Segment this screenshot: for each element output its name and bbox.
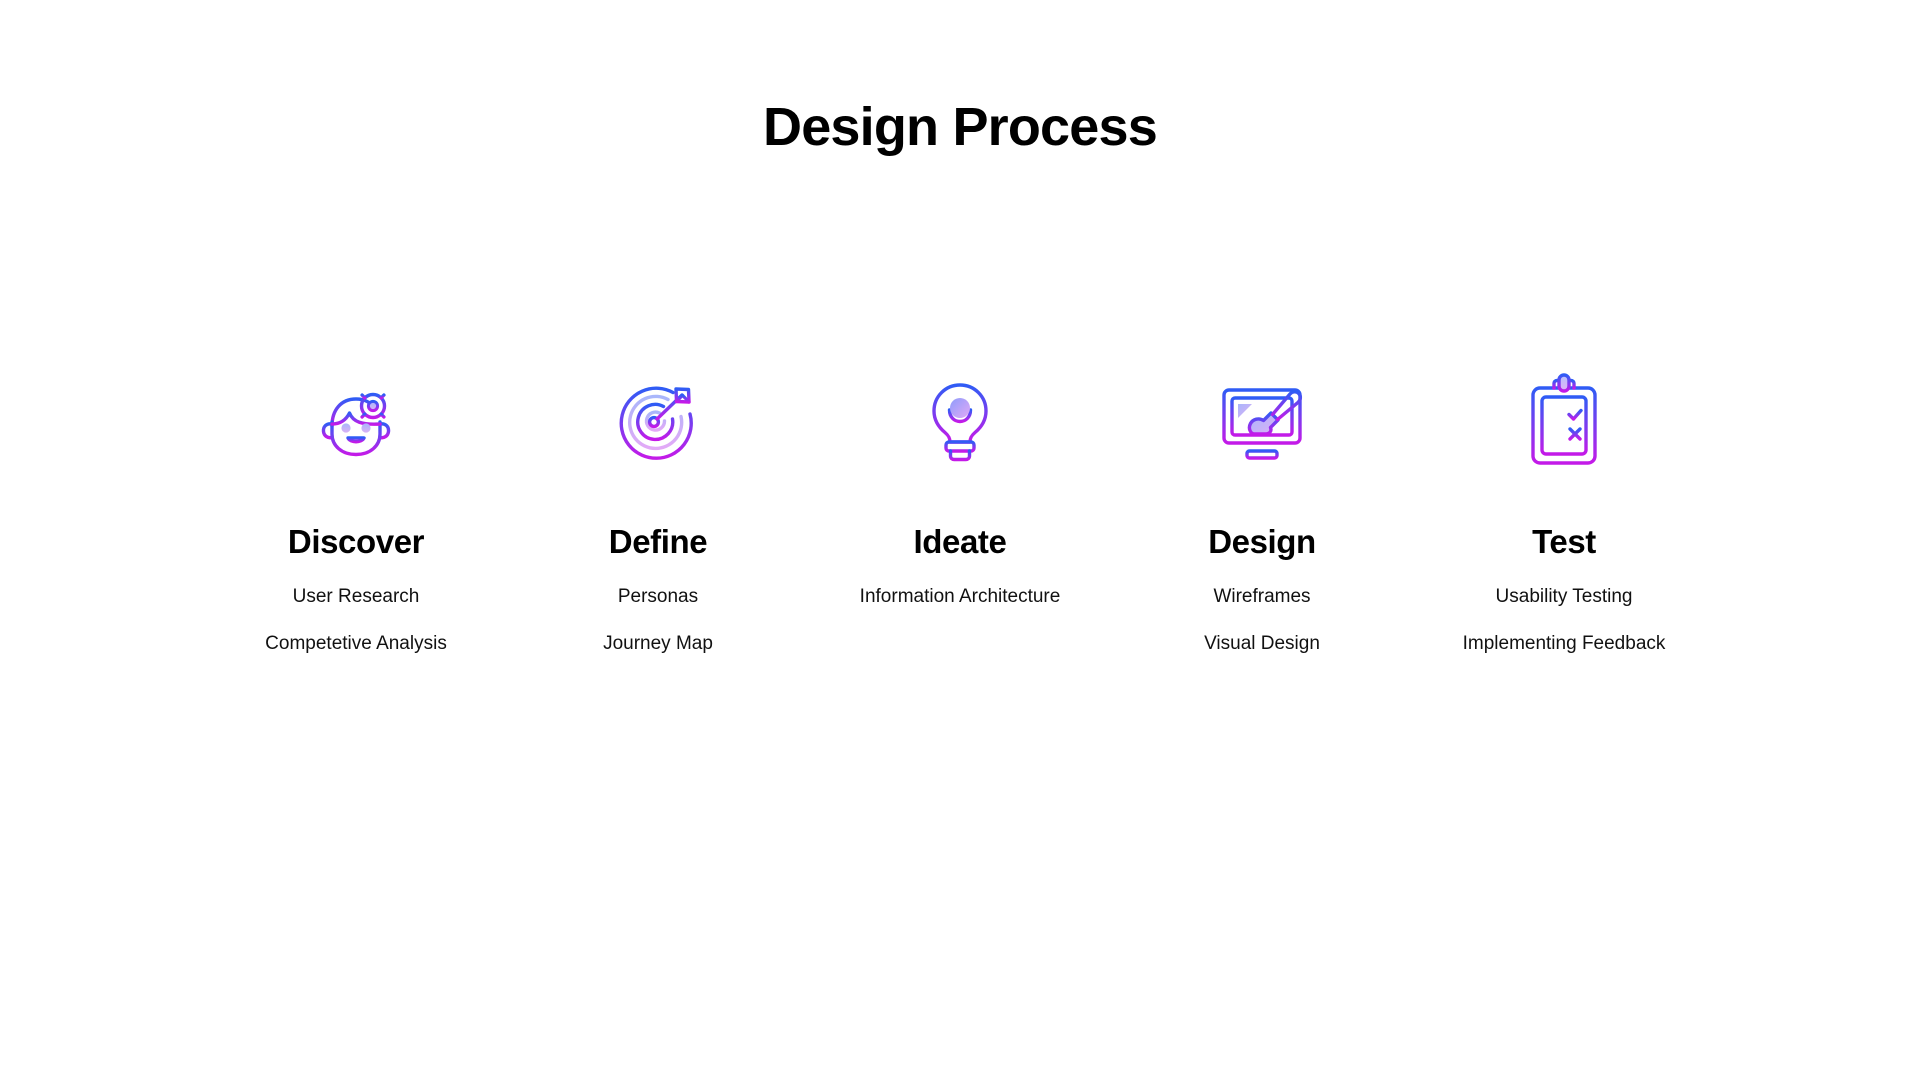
monitor-with-paintbrush-icon [1214,372,1310,468]
stage-title: Define [609,524,707,560]
stage-items: Information Architecture [809,586,1111,609]
lightbulb-icon [912,372,1008,468]
stage-item: Usability Testing [1413,586,1715,609]
stages-row: Discover User Research Competetive Analy… [0,372,1920,656]
clipboard-checklist-icon [1516,372,1612,468]
stage-design[interactable]: Design Wireframes Visual Design [1111,372,1413,656]
stage-items: Wireframes Visual Design [1111,586,1413,656]
stage-item: Wireframes [1111,586,1413,609]
stage-item: Information Architecture [809,586,1111,609]
stage-items: Personas Journey Map [507,586,809,656]
stage-item: Visual Design [1111,633,1413,656]
page-title: Design Process [0,96,1920,158]
design-process-page: Design Process [0,0,1920,1080]
stage-item: Personas [507,586,809,609]
stage-ideate[interactable]: Ideate Information Architecture [809,372,1111,609]
stage-title: Test [1532,524,1596,560]
stage-item: Competetive Analysis [205,633,507,656]
target-with-dart-icon [610,372,706,468]
stage-discover[interactable]: Discover User Research Competetive Analy… [205,372,507,656]
stage-test[interactable]: Test Usability Testing Implementing Feed… [1413,372,1715,656]
stage-title: Design [1208,524,1316,560]
stage-item: User Research [205,586,507,609]
stage-title: Discover [288,524,424,560]
stage-title: Ideate [914,524,1007,560]
stage-items: User Research Competetive Analysis [205,586,507,656]
face-with-gear-icon [308,372,404,468]
stage-items: Usability Testing Implementing Feedback [1413,586,1715,656]
stage-item: Journey Map [507,633,809,656]
stage-define[interactable]: Define Personas Journey Map [507,372,809,656]
stage-item: Implementing Feedback [1413,633,1715,656]
